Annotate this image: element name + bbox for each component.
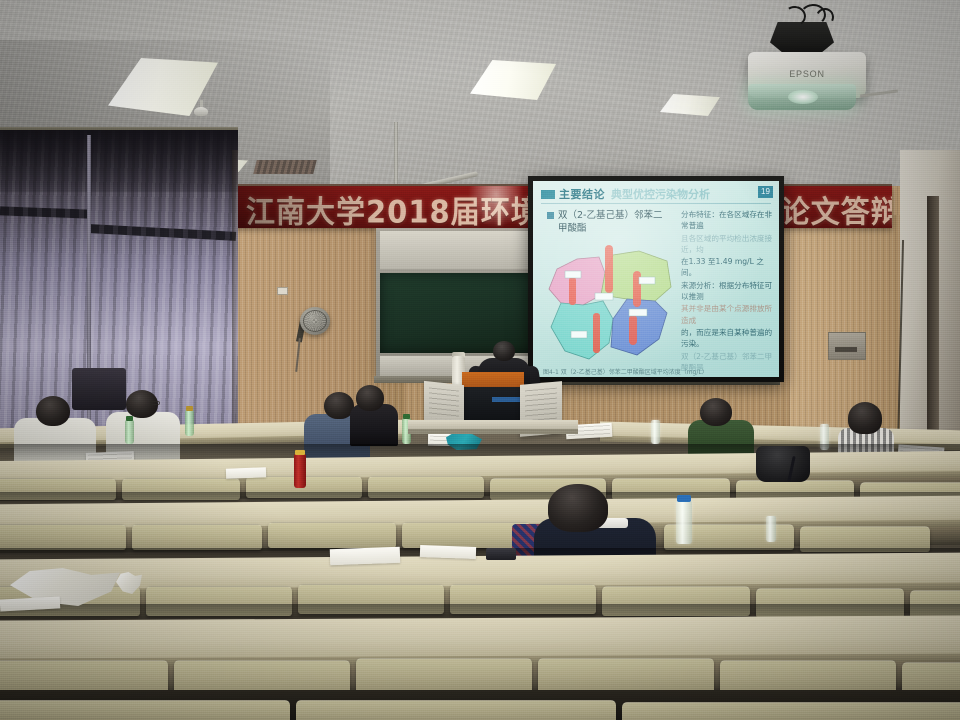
seat-back-e-4[interactable] <box>538 658 714 694</box>
water-bottle-row-c[interactable] <box>766 516 776 542</box>
podium-top-trim <box>462 372 524 388</box>
map-bar-5 <box>629 315 637 345</box>
dark-equipment-box <box>72 368 126 410</box>
audience-woman-striped-top-head <box>848 402 882 434</box>
presenter-head <box>493 341 515 361</box>
seat-back-c-3[interactable] <box>268 522 396 548</box>
papers-row-d-2[interactable] <box>420 545 476 559</box>
audience-man-green-shirt-head <box>700 398 732 426</box>
ceiling-fan-rod <box>394 122 398 188</box>
slide-body-line-8: 最广泛使用的增塑剂，初步推断双 <box>681 374 779 375</box>
slide-body-line-5: 其并非是由某个点源排放所造成 <box>681 303 779 326</box>
papers-row-d[interactable] <box>330 547 401 565</box>
green-tea-bottle-3-cap <box>403 414 410 419</box>
map-bar-3 <box>633 271 641 307</box>
seat-back-f-2[interactable] <box>296 700 616 720</box>
slide-body-line-6: 的，而应是来自某种普遍的污染。 <box>681 327 779 350</box>
map-bar-2 <box>605 245 613 293</box>
wall-socket-panel[interactable] <box>828 332 866 360</box>
projector-lens-glow <box>788 90 818 104</box>
podium-paper-left-lines <box>429 387 459 420</box>
front-table-edge <box>408 429 578 434</box>
audience-man-white-shirt-left-head <box>36 396 70 426</box>
wall-plate <box>277 287 288 295</box>
map-svg <box>543 243 679 368</box>
map-bar-4 <box>593 313 600 353</box>
slide-body-text: 分布特征：在各区域存在非常普遍 且各区域的平均检出浓度接近，均 在1.33 至1… <box>681 209 779 375</box>
water-bottle-foreground-cap <box>677 495 691 502</box>
audience-woman-dark-top-head <box>356 385 384 411</box>
slide-body-line-1: 分布特征：在各区域存在非常普遍 <box>681 209 779 232</box>
red-beverage-bottle-cap <box>295 450 305 455</box>
sprinkler-head <box>194 107 208 116</box>
projector-brand-label: EPSON <box>748 69 866 79</box>
wall-corner-shadow <box>232 150 238 450</box>
slide-map-chart <box>543 243 679 368</box>
black-backpack[interactable] <box>756 446 810 482</box>
seat-back-c-2[interactable] <box>132 524 262 550</box>
seat-back-f-1[interactable] <box>0 700 290 720</box>
banner-glare <box>468 186 524 228</box>
green-tea-bottle-2[interactable] <box>125 420 134 444</box>
slide-bullet-marker-icon <box>547 212 554 219</box>
blackboard-upper-panel <box>380 231 537 269</box>
slide-title-marker-icon <box>541 190 555 199</box>
slide-bullet-heading: 双（2-乙基己基）邻苯二甲酸酯 <box>547 209 665 235</box>
green-tea-bottle-2-cap <box>126 416 133 421</box>
projection-screen: 主要结论 典型优控污染物分析 19 双（2-乙基己基）邻苯二甲酸酯 <box>528 176 784 382</box>
seat-back-f-3[interactable] <box>622 702 960 720</box>
papers-row-b[interactable] <box>226 467 266 478</box>
slide-title: 主要结论 <box>559 186 605 202</box>
ceiling-vent <box>253 160 316 174</box>
slide-body-line-2: 且各区域的平均检出浓度接近，均 <box>681 233 779 256</box>
seat-back-e-3[interactable] <box>356 658 532 694</box>
slide-title-bar: 主要结论 典型优控污染物分析 <box>541 186 771 202</box>
water-bottle-foreground[interactable] <box>676 500 692 544</box>
slide-bullet-heading-text: 双（2-乙基己基）邻苯二甲酸酯 <box>558 209 665 235</box>
slide-title-secondary: 典型优控污染物分析 <box>611 186 710 202</box>
wall-fan-cage <box>303 310 327 332</box>
green-tea-bottle-1[interactable] <box>185 410 194 436</box>
slide-body-line-3: 在1.33 至1.49 mg/L 之间。 <box>681 256 779 279</box>
slide-map-caption: 图4-1 双（2-乙基己基）邻苯二甲酸酯区域平均浓度（mg/L） <box>543 367 693 376</box>
map-region-3 <box>551 301 613 359</box>
wall-fan[interactable] <box>300 307 330 335</box>
map-region-4 <box>611 299 667 355</box>
classroom-photo: EPSON 江南大学2018届环境工程专业本科毕业论文答辩会 <box>0 0 960 720</box>
red-beverage-bottle[interactable] <box>294 454 306 488</box>
blackboard-surface <box>380 273 537 353</box>
slide-title-divider <box>541 203 771 204</box>
green-tea-bottle-1-cap <box>186 406 193 411</box>
seat-back-c-1[interactable] <box>0 524 126 550</box>
presentation-slide: 主要结论 典型优控污染物分析 19 双（2-乙基己基）邻苯二甲酸酯 <box>533 181 779 377</box>
phone-on-desk[interactable] <box>486 548 516 560</box>
curtain-upper-shadow <box>0 130 238 192</box>
water-bottle-1[interactable] <box>651 420 660 444</box>
slide-page-number: 19 <box>758 186 773 198</box>
slide-body-line-4: 来源分析：根据分布特征可以推测 <box>681 280 779 303</box>
map-bar-1 <box>569 277 576 305</box>
slide-body-line-7: 双（2-乙基己基）邻苯二甲酸酯是 <box>681 351 779 374</box>
audience-man-dark-suit-head <box>548 484 608 532</box>
glasses-icon <box>150 401 160 405</box>
